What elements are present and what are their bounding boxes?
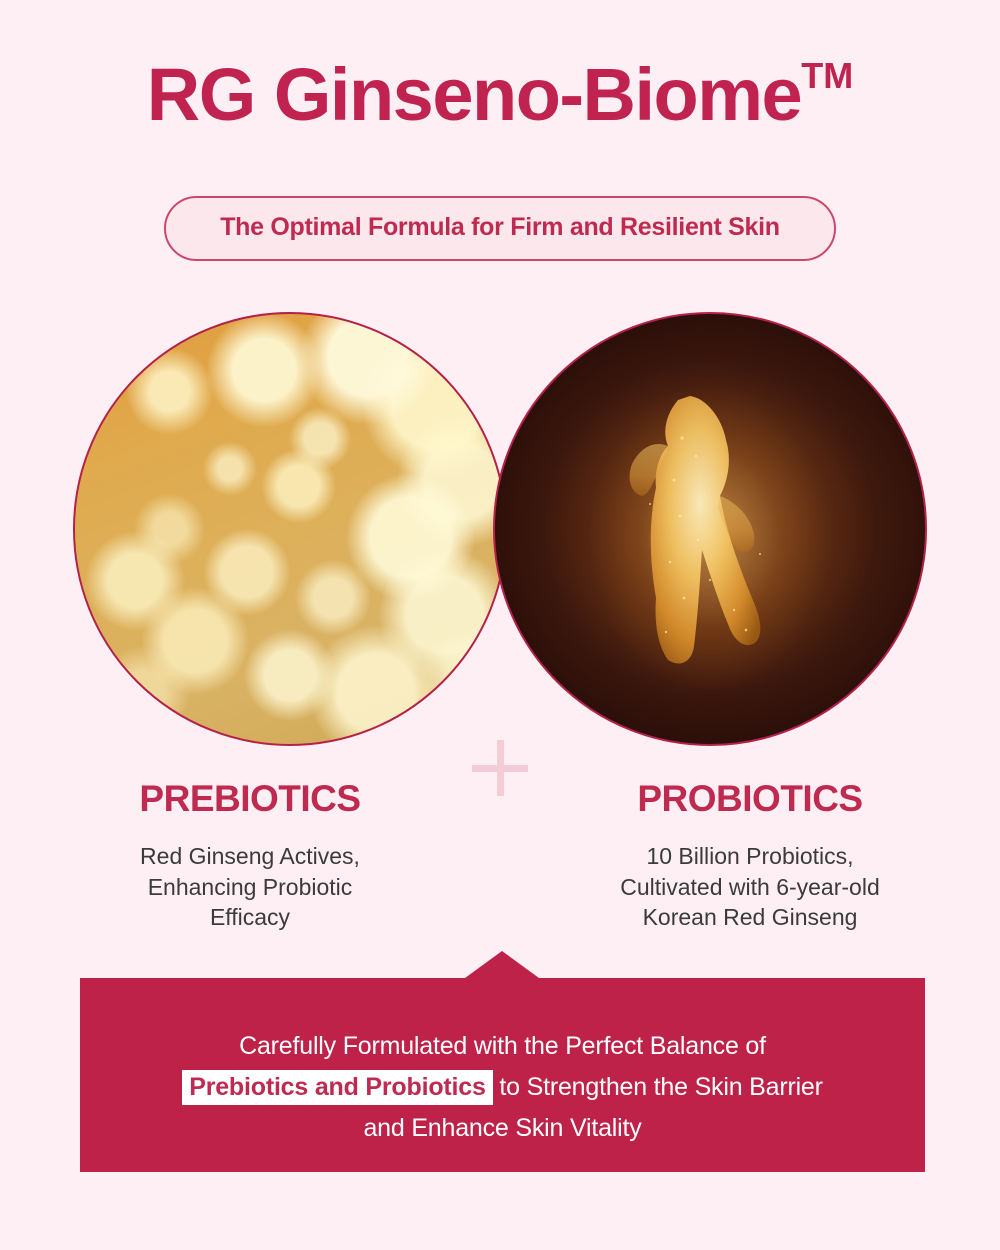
probiotics-image (493, 312, 927, 746)
column-probiotics: PROBIOTICS 10 Billion Probiotics, Cultiv… (500, 780, 1000, 933)
probiotics-heading: PROBIOTICS (500, 780, 1000, 817)
banner-notch (465, 951, 539, 978)
prebiotics-description-line: Red Ginseng Actives, (0, 841, 500, 872)
image-pair (0, 312, 1000, 748)
subtitle-pill-container: The Optimal Formula for Firm and Resilie… (0, 196, 1000, 261)
product-infographic: RG Ginseno-BiomeTM The Optimal Formula f… (0, 0, 1000, 1250)
prebiotics-description: Red Ginseng Actives, Enhancing Probiotic… (0, 841, 500, 933)
summary-banner: Carefully Formulated with the Perfect Ba… (80, 978, 925, 1172)
banner-line-2: to Strengthen the Skin Barrier (493, 1073, 823, 1101)
probiotics-description-line: Cultivated with 6-year-old (500, 872, 1000, 903)
probiotics-description: 10 Billion Probiotics, Cultivated with 6… (500, 841, 1000, 933)
probiotics-description-line: 10 Billion Probiotics, (500, 841, 1000, 872)
prebiotics-heading: PREBIOTICS (0, 780, 500, 817)
page-title-text: RG Ginseno-Biome (147, 53, 801, 136)
banner-text: Carefully Formulated with the Perfect Ba… (80, 1026, 925, 1148)
probiotics-description-line: Korean Red Ginseng (500, 902, 1000, 933)
prebiotics-description-line: Efficacy (0, 902, 500, 933)
banner-highlight: Prebiotics and Probiotics (182, 1070, 492, 1105)
trademark-symbol: TM (801, 55, 853, 96)
page-title-container: RG Ginseno-BiomeTM (0, 58, 1000, 132)
prebiotics-image (73, 312, 507, 746)
banner-line-1: Carefully Formulated with the Perfect Ba… (239, 1032, 766, 1060)
benefit-columns: PREBIOTICS Red Ginseng Actives, Enhancin… (0, 780, 1000, 933)
column-prebiotics: PREBIOTICS Red Ginseng Actives, Enhancin… (0, 780, 500, 933)
ginseng-root-graphic (610, 384, 810, 674)
prebiotics-description-line: Enhancing Probiotic (0, 872, 500, 903)
page-title: RG Ginseno-BiomeTM (147, 58, 853, 132)
subtitle-pill: The Optimal Formula for Firm and Resilie… (164, 196, 836, 261)
banner-line-3: and Enhance Skin Vitality (363, 1114, 641, 1142)
